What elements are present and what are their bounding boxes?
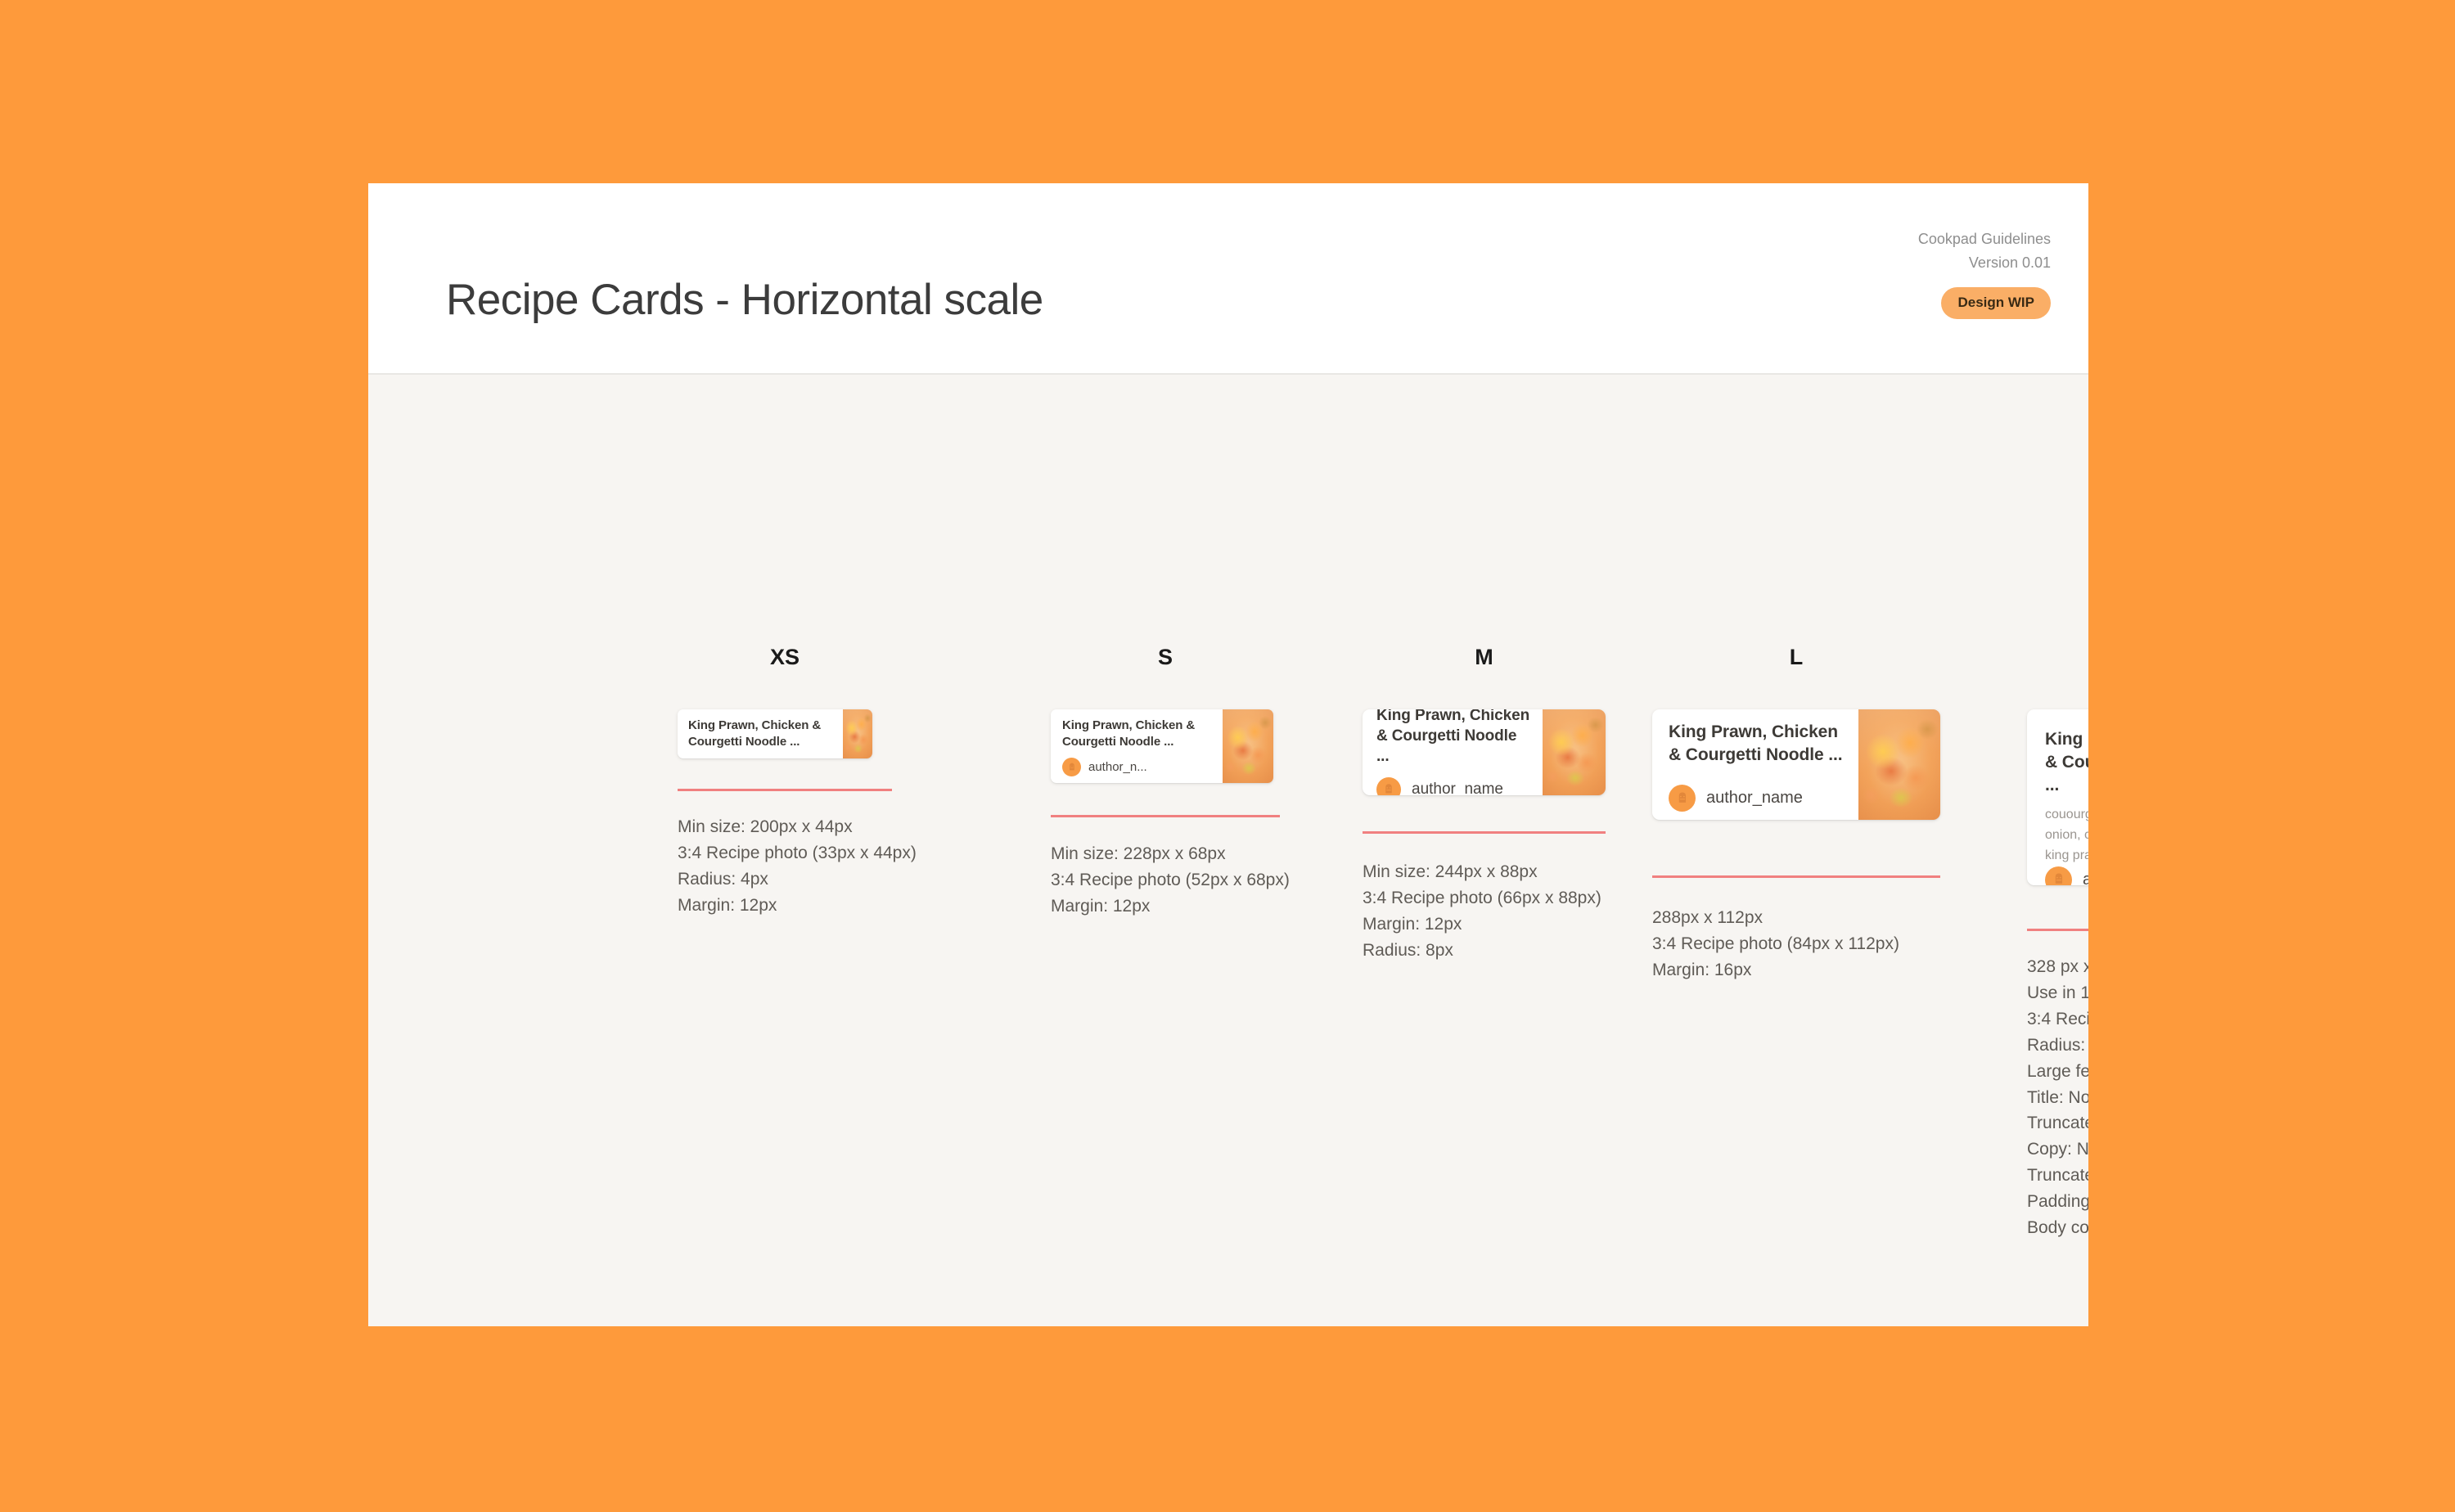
size-label-s: S bbox=[1051, 645, 1280, 670]
spec-item: Title: Noto SemiBold - 16 bbox=[2027, 1085, 2088, 1111]
size-label-m: M bbox=[1363, 645, 1606, 670]
spec-item: Copy: Noto Regular - 12 bbox=[2027, 1136, 2088, 1163]
recipe-photo bbox=[1543, 709, 1606, 795]
guidelines-label: Cookpad Guidelines bbox=[1918, 227, 2051, 251]
author-row[interactable]: author_name bbox=[1669, 785, 1847, 812]
author-name: author_name bbox=[1706, 789, 1803, 808]
spec-list-xl: 328 px x 176px Use in 1 col lists 3:4 Re… bbox=[2027, 954, 2088, 1241]
recipe-photo bbox=[1223, 709, 1273, 783]
page-header: Recipe Cards - Horizontal scale Cookpad … bbox=[368, 183, 2088, 375]
recipe-photo bbox=[1858, 709, 1940, 820]
author-row[interactable]: author_n... bbox=[1062, 758, 1214, 776]
spec-divider bbox=[1051, 815, 1280, 817]
spec-item: 3:4 Recipe photo (52px x 68px) bbox=[1051, 867, 1280, 893]
author-avatar-icon bbox=[1669, 785, 1696, 812]
spec-item: Radius: 8px bbox=[2027, 1033, 2088, 1059]
spec-item: Margin: 12px bbox=[678, 893, 892, 919]
spec-item: Radius: 8px bbox=[1363, 938, 1606, 964]
spec-item: 3:4 Recipe photo (84px x 112px) bbox=[1652, 931, 1940, 957]
card-body: King Prawn, Chicken & Courgetti Noodle .… bbox=[1051, 709, 1223, 783]
recipe-title: King Prawn, Chicken & Courgetti Noodle .… bbox=[2045, 728, 2088, 797]
card-body: King Prawn, Chicken & Courgetti Noodle .… bbox=[1363, 709, 1543, 795]
recipe-title: King Prawn, Chicken & Courgetti Noodle .… bbox=[688, 718, 834, 750]
recipe-copy: couourgette, noddles, red onion, carrot,… bbox=[2045, 804, 2088, 866]
size-label-xs: XS bbox=[678, 645, 892, 670]
spec-divider bbox=[2027, 929, 2088, 931]
spec-list-xs: Min size: 200px x 44px 3:4 Recipe photo … bbox=[678, 814, 892, 919]
spec-item: 328 px x 176px bbox=[2027, 954, 2088, 980]
spec-item: 3:4 Recipe photo (66px x 88px) bbox=[1363, 885, 1606, 911]
spec-list-l: 288px x 112px 3:4 Recipe photo (84px x 1… bbox=[1652, 905, 1940, 983]
author-avatar-icon bbox=[2045, 866, 2072, 885]
spec-item: Min size: 244px x 88px bbox=[1363, 859, 1606, 885]
recipe-card-l[interactable]: King Prawn, Chicken & Courgetti Noodle .… bbox=[1652, 709, 1940, 820]
recipe-card-m[interactable]: King Prawn, Chicken & Courgetti Noodle .… bbox=[1363, 709, 1606, 795]
version-label: Version 0.01 bbox=[1918, 251, 2051, 275]
author-row[interactable]: author_name bbox=[1376, 777, 1533, 795]
recipe-card-s[interactable]: King Prawn, Chicken & Courgetti Noodle .… bbox=[1051, 709, 1273, 783]
spec-item: Margin: 12px bbox=[1051, 893, 1280, 920]
spec-list-s: Min size: 228px x 68px 3:4 Recipe photo … bbox=[1051, 841, 1280, 920]
spec-item: Radius: 4px bbox=[678, 866, 892, 893]
spec-item: Large feed bbox=[2027, 1059, 2088, 1085]
spec-divider bbox=[1652, 875, 1940, 878]
spec-item: 3:4 Recipe photo bbox=[2027, 1006, 2088, 1033]
spec-item: 288px x 112px bbox=[1652, 905, 1940, 931]
spec-divider bbox=[1363, 831, 1606, 834]
page-title: Recipe Cards - Horizontal scale bbox=[446, 275, 1043, 325]
spec-item: Body copy links: Body copy colour bbox=[2027, 1215, 2088, 1241]
spec-item: Truncate 48 bbox=[2027, 1110, 2088, 1136]
recipe-card-xl[interactable]: King Prawn, Chicken & Courgetti Noodle .… bbox=[2027, 709, 2088, 885]
spec-item: Margin: 12px bbox=[1363, 911, 1606, 938]
size-label-l: L bbox=[1652, 645, 1940, 670]
spec-item: Min size: 200px x 44px bbox=[678, 814, 892, 840]
recipe-photo bbox=[843, 709, 872, 758]
recipe-card-xs[interactable]: King Prawn, Chicken & Courgetti Noodle .… bbox=[678, 709, 872, 758]
author-name: author_name bbox=[1412, 781, 1503, 795]
spec-item: Use in 1 col lists bbox=[2027, 980, 2088, 1006]
spec-divider bbox=[678, 789, 892, 791]
spec-item: Margin: 16px bbox=[1652, 957, 1940, 983]
author-name: author_name bbox=[2083, 871, 2088, 885]
recipe-title: King Prawn, Chicken & Courgetti Noodle .… bbox=[1376, 709, 1533, 767]
recipe-title: King Prawn, Chicken & Courgetti Noodle .… bbox=[1062, 718, 1214, 750]
recipe-title: King Prawn, Chicken & Courgetti Noodle .… bbox=[1669, 721, 1847, 767]
author-row[interactable]: author_name bbox=[2045, 866, 2088, 885]
author-name: author_n... bbox=[1088, 760, 1147, 774]
author-avatar-icon bbox=[1376, 777, 1401, 795]
spec-item: Min size: 228px x 68px bbox=[1051, 841, 1280, 867]
status-badge[interactable]: Design WIP bbox=[1941, 287, 2051, 319]
size-label-xl: XL bbox=[2027, 645, 2088, 670]
header-meta-block: Cookpad Guidelines Version 0.01 Design W… bbox=[1918, 227, 2051, 319]
spec-item: 3:4 Recipe photo (33px x 44px) bbox=[678, 840, 892, 866]
card-body: King Prawn, Chicken & Courgetti Noodle .… bbox=[2027, 709, 2088, 885]
spec-list-m: Min size: 244px x 88px 3:4 Recipe photo … bbox=[1363, 859, 1606, 964]
author-avatar-icon bbox=[1062, 758, 1081, 776]
card-body: King Prawn, Chicken & Courgetti Noodle .… bbox=[1652, 709, 1858, 820]
spec-item: Padding 16 bbox=[2027, 1189, 2088, 1215]
design-canvas: Recipe Cards - Horizontal scale Cookpad … bbox=[368, 183, 2088, 1326]
spec-item: Truncate 88 bbox=[2027, 1163, 2088, 1189]
card-body: King Prawn, Chicken & Courgetti Noodle .… bbox=[678, 709, 843, 758]
size-columns-container: XS King Prawn, Chicken & Courgetti Noodl… bbox=[368, 375, 2088, 1325]
